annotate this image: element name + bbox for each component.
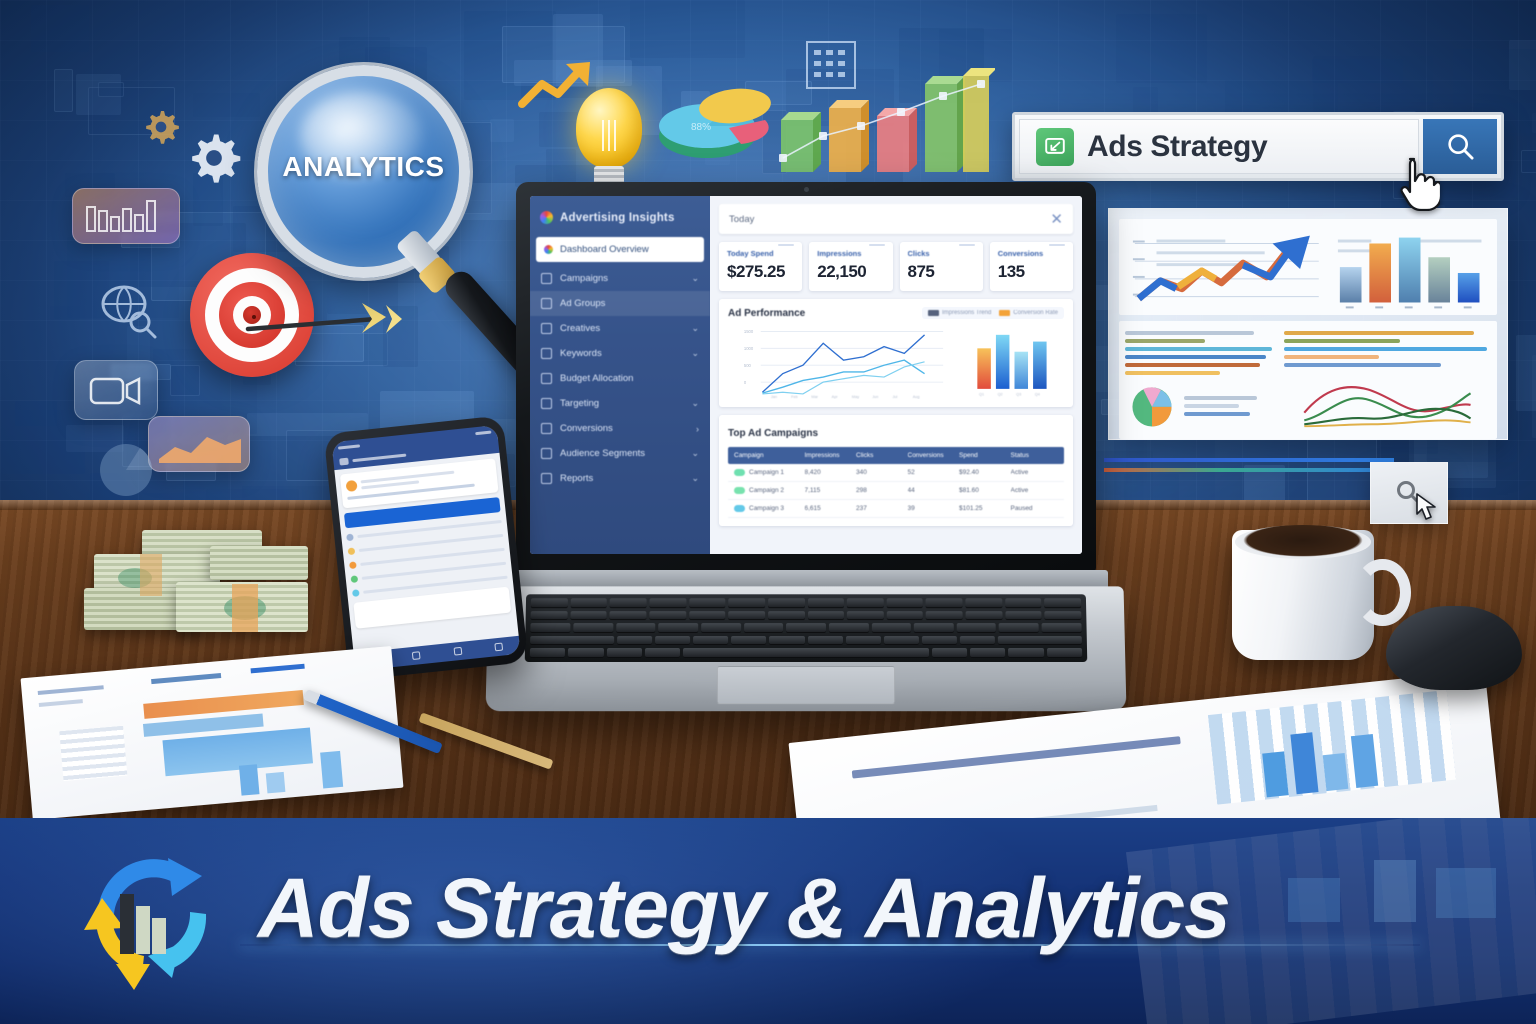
table-row[interactable]: Campaign 27,11529844$81.60Active [728,482,1064,500]
keyboard-key[interactable] [650,598,687,608]
phone-nav-profile-icon[interactable] [495,643,504,652]
table-cell-impressions: 6,615 [805,505,853,512]
smartphone [324,415,529,680]
pie-3d-icon: 88% [655,58,775,176]
keyboard-key[interactable] [568,648,603,658]
keyboard-key[interactable] [808,598,844,608]
sidebar-item-label: Creatives [560,323,683,334]
svg-text:Aug: Aug [913,395,920,399]
legend-entry: Impressions Trend [928,310,991,316]
gear-icon-small [142,108,180,146]
grid-icon [541,298,552,309]
keyboard-key[interactable] [731,636,766,646]
video-icon-svg [75,361,159,421]
trend-arrow-icon [516,56,606,114]
keyboard-key[interactable] [744,623,784,633]
keyboard-key[interactable] [531,598,568,608]
arrow-cursor-svg [1414,492,1440,522]
keyboard-key[interactable] [808,611,845,621]
sidebar-item-label: Keywords [560,348,683,359]
keyboard-key[interactable] [728,611,765,621]
sidebar-item-keywords[interactable]: Keywords⌄ [530,341,710,366]
table-cell-clicks: 298 [856,487,904,494]
brand-logo-icon [540,211,553,224]
table-cell-impressions: 8,420 [805,469,853,476]
close-icon[interactable]: ✕ [1050,212,1063,227]
svg-text:1500: 1500 [744,329,754,334]
keyboard-key[interactable] [571,598,608,608]
keyboard-key[interactable] [645,648,680,658]
sidebar-item-label: Audience Segments [560,448,683,459]
keyboard-row [531,623,1082,633]
growth-arrow-up [1127,227,1324,317]
keyboard-key[interactable] [683,648,929,658]
svg-text:Feb: Feb [791,395,798,399]
chevron-down-icon[interactable]: ⌄ [691,398,699,409]
pointer-hand-cursor [1396,155,1440,216]
keyboard-key[interactable] [617,636,652,646]
topbar-title: Today [729,214,754,225]
kpi-sparkline [778,244,794,246]
table-cell-spend: $101.25 [959,505,1007,512]
keyboard-key[interactable] [829,623,869,633]
phone-nav-search-icon[interactable] [412,651,421,660]
keyboard-key[interactable] [914,623,954,633]
kpi-cards: Today Spend$275.25Impressions22,150Click… [719,242,1073,291]
chevron-down-icon[interactable]: ⌄ [691,448,699,459]
svg-text:May: May [852,395,859,399]
table-cell-conversions: 44 [908,487,956,494]
sidebar-item-reports[interactable]: Reports⌄ [530,466,710,491]
screenshot-root: ANALYTICS 88% [0,0,1536,1024]
phone-app-body [334,453,516,634]
target-icon [541,398,552,409]
svg-text:Jan: Jan [771,395,777,399]
keyboard-key[interactable] [1008,648,1043,658]
keyboard-key[interactable] [932,648,967,658]
keyboard-row [530,648,1082,658]
keyboard-key[interactable] [610,611,647,621]
laptop-lid: Advertising Insights Dashboard Overview … [516,182,1096,572]
sidebar-item-label: Ad Groups [560,298,691,309]
keyboard-key[interactable] [658,623,698,633]
kpi-label: Impressions [817,249,884,258]
table-row[interactable]: Campaign 18,42034052$92.40Active [728,464,1064,482]
kpi-sparkline [959,244,975,246]
keyboard-row [530,636,1081,646]
panel-bar-chart [1332,227,1489,307]
coffee-mug [1232,530,1374,660]
pie-icon [96,440,156,500]
laptop: Advertising Insights Dashboard Overview … [516,182,1096,712]
svg-text:1000: 1000 [744,346,754,351]
phone-screen [331,425,520,671]
sidebar-item-label: Targeting [560,398,683,409]
kpi-value: 875 [908,262,975,282]
keyboard-key[interactable] [606,648,641,658]
svg-text:Q3: Q3 [1016,393,1021,397]
kpi-card: Impressions22,150 [809,242,892,291]
search-query-text: Ads Strategy [1087,130,1267,164]
sidebar-item-creatives[interactable]: Creatives⌄ [530,316,710,341]
kpi-label: Today Spend [727,249,794,258]
table-column-header[interactable]: Conversions [908,452,956,459]
arrow-cursor [1414,492,1440,527]
laptop-screen: Advertising Insights Dashboard Overview … [530,196,1082,554]
table-column-header[interactable]: Campaign [734,452,801,459]
keyboard-key[interactable] [1042,623,1082,633]
keyboard-key[interactable] [847,611,884,621]
status-dot [734,469,745,476]
search-input[interactable]: Ads Strategy [1019,119,1419,174]
keyboard-key[interactable] [768,611,805,621]
legend-swatch [928,310,939,316]
keyboard-key[interactable] [768,598,804,608]
keyboard-key[interactable] [531,623,571,633]
table-cell-campaign: Campaign 3 [734,505,801,512]
table-column-header[interactable]: Status [1011,452,1059,459]
legend-swatch [999,310,1010,316]
bar-chart-card-svg [73,189,181,245]
tag-icon [541,348,552,359]
keyboard-key[interactable] [871,623,911,633]
keyboard-key[interactable] [531,611,568,621]
top-campaigns-card: Top Ad Campaigns CampaignImpressionsClic… [719,415,1073,526]
chevron-down-icon[interactable]: ⌄ [691,473,699,484]
keyboard-key[interactable] [1005,611,1042,621]
table-cell-conversions: 39 [908,505,956,512]
dashboard-main: Today ✕ Today Spend$275.25Impressions22,… [710,196,1082,554]
search-icon [1445,131,1476,162]
svg-text:Jul: Jul [892,395,897,399]
keyboard-key[interactable] [530,636,614,646]
keyboard-key[interactable] [1045,611,1082,621]
keyboard-key[interactable] [649,611,686,621]
sidebar-item-conversions[interactable]: Conversions› [530,416,710,441]
table-row[interactable]: Campaign 36,61523739$101.25Paused [728,500,1064,518]
bulb-filament-left [602,120,604,152]
table-cell-status: Active [1011,469,1059,476]
sidebar-item-label: Conversions [560,423,688,434]
calculator-icon [805,40,857,90]
keyboard-key[interactable] [886,598,923,608]
brand-label: Advertising Insights [560,212,675,224]
pointer-hand-cursor-svg [1396,155,1440,211]
panel-bottom [1119,321,1497,439]
phone-nav-chart-icon[interactable] [453,647,462,656]
dashboard-topbar: Today ✕ [719,204,1073,234]
keyboard-key[interactable] [689,611,726,621]
chevron-down-icon[interactable]: ⌄ [691,348,699,359]
svg-text:Q4: Q4 [1035,393,1040,397]
computer-mouse[interactable] [1386,606,1522,690]
table-cell-spend: $81.60 [959,487,1007,494]
keyboard-key[interactable] [966,611,1003,621]
sidebar-item-audience-segments[interactable]: Audience Segments⌄ [530,441,710,466]
table-column-header[interactable]: Impressions [805,452,853,459]
trend-arrow-svg [516,56,606,114]
svg-text:0: 0 [744,380,747,385]
dashboard-sidebar: Advertising Insights Dashboard Overview … [530,196,710,554]
active-item-icon [544,245,553,254]
chevron-down-icon[interactable]: ⌄ [691,323,699,334]
sidebar-item-label: Budget Allocation [560,373,691,384]
panel-bar-chart-svg [1332,227,1489,317]
bulb-filament-right [614,120,616,152]
chevron-down-icon[interactable]: ⌄ [691,273,699,284]
keyboard-key[interactable] [573,623,613,633]
kpi-card: Conversions135 [990,242,1073,291]
arrow-icon [236,289,406,369]
svg-text:Q1: Q1 [979,393,984,397]
keyboard-key[interactable] [570,611,607,621]
table-cell-conversions: 52 [908,469,956,476]
sidebar-item-ad-groups[interactable]: Ad Groups [530,291,710,316]
kpi-card: Clicks875 [900,242,983,291]
video-icon [74,360,158,420]
bulb-filament [608,120,610,152]
campaign-name: Campaign 3 [749,505,784,512]
top-campaigns-title: Top Ad Campaigns [728,428,818,439]
keyboard-key[interactable] [616,623,656,633]
keyboard-key[interactable] [965,598,1002,608]
sidebar-active-label: Dashboard Overview [560,244,649,255]
chevron-down-icon[interactable]: › [696,424,699,434]
table-cell-spend: $92.40 [959,469,1007,476]
gear-icon-small-svg [142,108,180,146]
svg-text:88%: 88% [691,122,711,133]
svg-text:Jun: Jun [872,395,878,399]
dashboard-brand: Advertising Insights [530,200,710,235]
panel-growth-chart [1127,227,1324,307]
area-chart-card-icon [148,416,250,472]
chart-icon [541,423,552,434]
ad-performance-title: Ad Performance [728,308,805,319]
table-column-header[interactable]: Spend [959,452,1007,459]
keyboard-key[interactable] [926,611,963,621]
image-icon [541,323,552,334]
panel-pie-icon [1125,382,1179,430]
svg-text:Mar: Mar [811,395,818,399]
keyboard-key[interactable] [957,623,997,633]
kpi-card: Today Spend$275.25 [719,242,802,291]
keyboard-key[interactable] [883,636,918,646]
table-column-header[interactable]: Clicks [856,452,904,459]
calculator-svg [805,40,857,90]
keyboard-key[interactable] [999,623,1039,633]
chart-legend: Impressions TrendConversion Rate [922,307,1064,319]
table-cell-status: Paused [1011,505,1059,512]
pie-icon-svg [96,440,156,500]
table-cell-status: Active [1011,487,1059,494]
keyboard-key[interactable] [845,636,880,646]
webcam [804,187,809,192]
laptop-trackpad[interactable] [716,666,895,704]
campaign-name: Campaign 2 [749,487,784,494]
keyboard-key[interactable] [926,598,963,608]
svg-text:Apr: Apr [832,395,839,399]
gear-icon-svg [186,130,242,186]
legend-label: Conversion Rate [1013,310,1058,316]
keyboard-key[interactable] [769,636,804,646]
status-dot [734,487,745,494]
banner-title: Ads Strategy & Analytics [258,860,1230,957]
magnifier-label: ANALYTICS [257,151,470,183]
keyboard-key[interactable] [1005,598,1042,608]
keyboard-key[interactable] [921,636,956,646]
panel-connector-bars [1104,452,1394,492]
table-cell-campaign: Campaign 2 [734,487,801,494]
circular-arrows-bar-chart-logo [72,846,232,996]
search-globe-svg [96,278,160,340]
table-body: Campaign 18,42034052$92.40ActiveCampaign… [728,464,1064,518]
analytics-magnifier: ANALYTICS [257,65,470,278]
panel-rows-left [1125,327,1278,433]
kpi-value: 135 [998,262,1065,282]
laptop-base [486,586,1127,711]
keyboard-key[interactable] [807,636,842,646]
keyboard-key[interactable] [786,623,826,633]
keyboard-key[interactable] [997,636,1081,646]
area-chart-card-svg [149,417,251,473]
kpi-label: Clicks [908,249,975,258]
campaign-name: Campaign 1 [749,469,784,476]
mug-handle [1354,559,1411,627]
table-cell-clicks: 340 [856,469,904,476]
sidebar-item-active[interactable]: Dashboard Overview [536,237,704,262]
wallet-icon [541,373,552,384]
bar-chart-card-icon [72,188,180,244]
panel-top-charts [1119,219,1497,315]
table-header-row: CampaignImpressionsClicksConversionsSpen… [728,447,1064,464]
keyboard-key[interactable] [1046,648,1081,658]
panel-wave-chart [1284,327,1491,433]
legend-entry: Conversion Rate [999,310,1058,316]
keyboard-key[interactable] [970,648,1005,658]
sidebar-nav-list: Campaigns⌄Ad GroupsCreatives⌄Keywords⌄Bu… [530,266,710,491]
keyboard-key[interactable] [693,636,728,646]
green-ads-icon-svg [1044,136,1066,158]
ad-performance-header: Ad Performance Impressions TrendConversi… [728,307,1064,319]
keyboard-key[interactable] [887,611,924,621]
sidebar-item-label: Reports [560,473,683,484]
report-icon [541,473,552,484]
green-ads-icon [1036,128,1074,166]
keyboard-key[interactable] [701,623,741,633]
sidebar-item-budget-allocation[interactable]: Budget Allocation [530,366,710,391]
analytics-report-panel [1108,208,1508,440]
ad-performance-body: 150010005000 JanFebMarApr MayJunJulAug [728,323,1064,399]
svg-text:Q2: Q2 [998,393,1003,397]
legend-label: Impressions Trend [942,310,991,316]
keyboard-row [531,611,1081,621]
search-globe-icon [96,278,160,340]
sidebar-item-targeting[interactable]: Targeting⌄ [530,391,710,416]
keyboard-key[interactable] [847,598,884,608]
keyboard-key[interactable] [959,636,994,646]
sidebar-item-label: Campaigns [560,273,683,284]
line-chart: 150010005000 JanFebMarApr MayJunJulAug [728,323,959,399]
table-cell-impressions: 7,115 [805,487,853,494]
gear-icon [186,130,242,186]
logo-svg [72,846,232,996]
pie-3d-svg: 88% [655,58,775,176]
table-cell-campaign: Campaign 1 [734,469,801,476]
keyboard-key[interactable] [530,648,565,658]
dashboard: Advertising Insights Dashboard Overview … [530,196,1082,554]
users-icon [541,448,552,459]
table-cell-clicks: 237 [856,505,904,512]
bar-chart: Q1Q2Q3Q4 [965,323,1064,399]
keyboard-key[interactable] [610,598,647,608]
laptop-keyboard[interactable] [525,594,1087,662]
status-dot [734,505,745,512]
keyboard-row [531,598,1081,608]
ad-performance-card: Ad Performance Impressions TrendConversi… [719,299,1073,407]
user-icon [541,273,552,284]
keyboard-key[interactable] [689,598,726,608]
kpi-value: 22,150 [817,262,884,282]
sidebar-item-campaigns[interactable]: Campaigns⌄ [530,266,710,291]
kpi-sparkline [1049,244,1065,246]
kpi-value: $275.25 [727,262,794,282]
kpi-sparkline [869,244,885,246]
svg-text:500: 500 [744,363,752,368]
bottom-banner: Ads Strategy & Analytics [0,818,1536,1024]
cash-stacks [84,530,314,650]
keyboard-key[interactable] [1044,598,1081,608]
keyboard-key[interactable] [655,636,690,646]
kpi-label: Conversions [998,249,1065,258]
panel-wave-svg [1284,374,1491,432]
coffee-surface [1235,525,1371,559]
keyboard-key[interactable] [729,598,766,608]
